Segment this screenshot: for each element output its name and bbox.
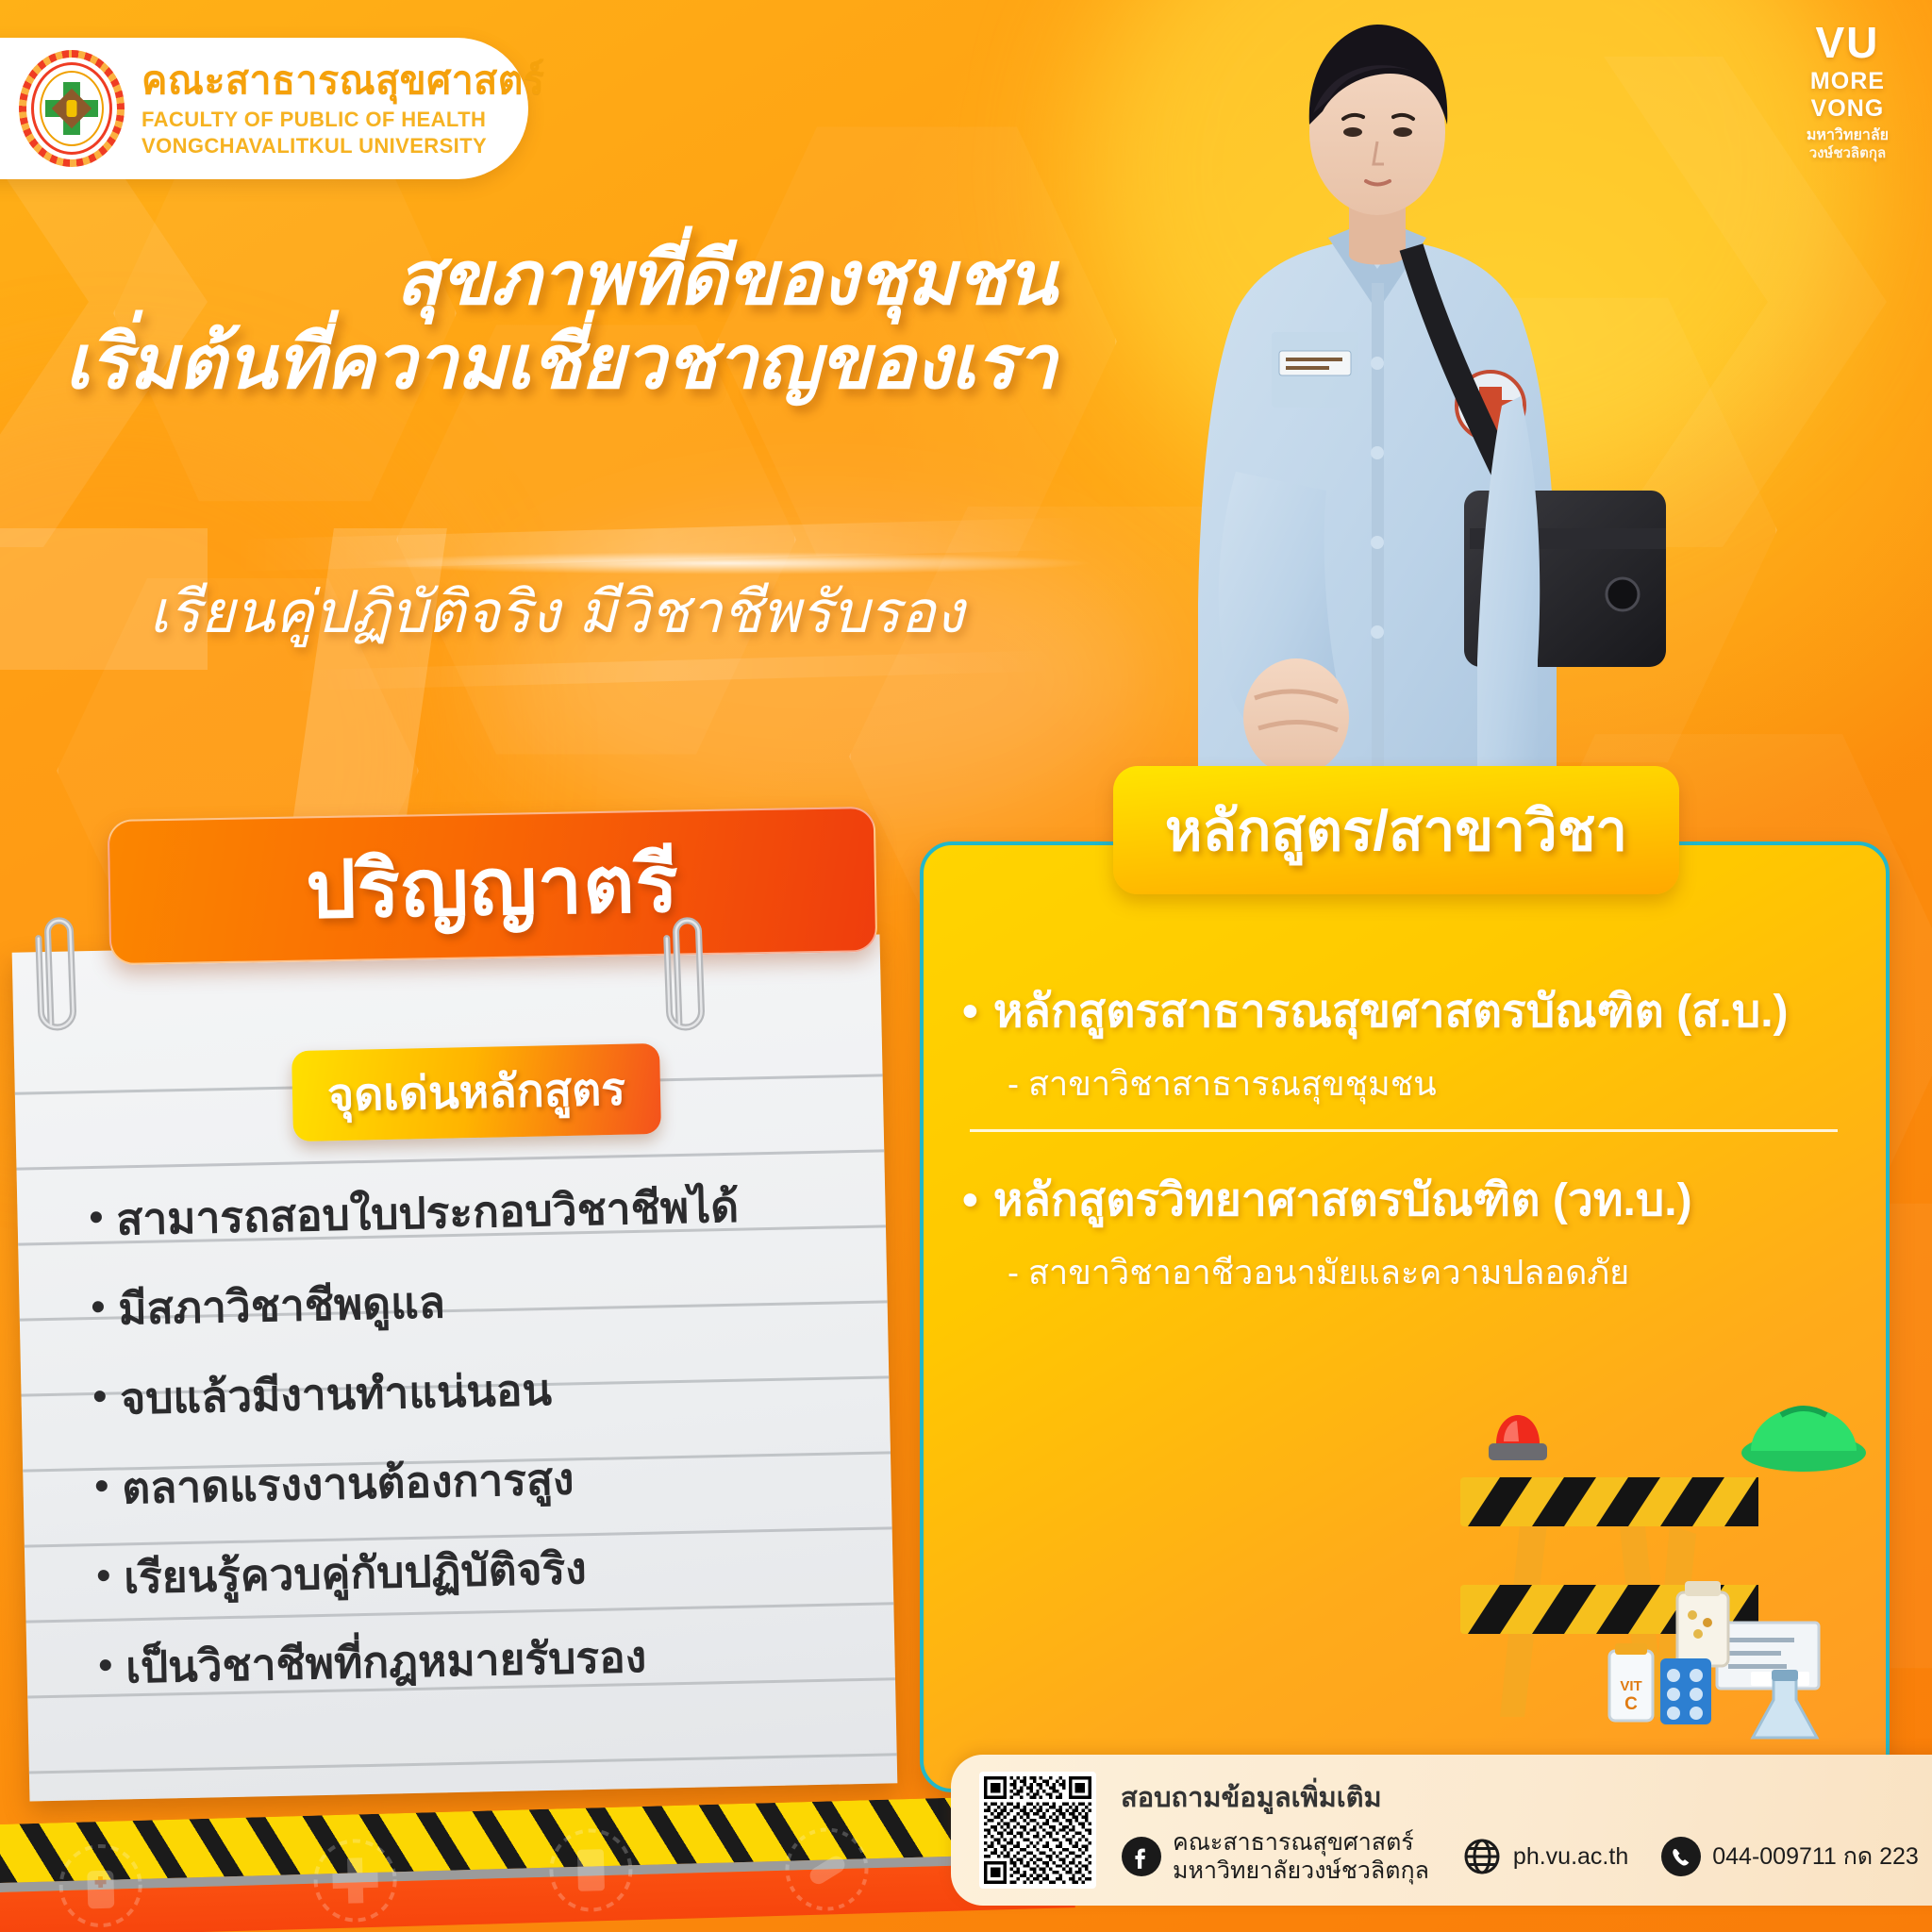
feature-label: เป็นวิชาชีพที่กฎหมายรับรอง	[125, 1635, 647, 1690]
degree-level-banner: ปริญญาตรี	[108, 807, 878, 965]
dash-icon: -	[1008, 1064, 1019, 1103]
contact-heading: สอบถามข้อมูลเพิ่มเติม	[1121, 1775, 1932, 1819]
dash-icon: -	[1008, 1253, 1019, 1291]
bullet-icon: •	[962, 989, 978, 1036]
poster-canvas: คณะสาธารณสุขศาสตร์ FACULTY OF PUBLIC OF …	[0, 0, 1932, 1932]
vitamin-c-icon: VIT C	[1609, 1643, 1653, 1721]
program-title-row: • หลักสูตรวิทยาศาสตรบัณฑิต (วท.บ.)	[962, 1177, 1858, 1224]
facebook-icon	[1121, 1836, 1162, 1877]
hard-hat-icon	[1741, 1407, 1866, 1472]
safety-barricade-illustration: VIT C	[1434, 1340, 1906, 1755]
feature-item: • จบแล้วมีงานทำแน่นอน	[92, 1362, 830, 1467]
warning-light-icon	[1489, 1415, 1547, 1460]
medical-cross-icon	[308, 1834, 402, 1927]
phone-contact[interactable]: 044-009711 กด 223	[1660, 1836, 1919, 1877]
script-text: เรียนคู่ปฏิบัติจริง มีวิชาชีพรับรอง	[57, 566, 1057, 658]
vu-logo-th1: มหาวิทยาลัย	[1807, 128, 1889, 143]
program-major: สาขาวิชาอาชีวอนามัยและความปลอดภัย	[1028, 1253, 1629, 1291]
faculty-name-en: FACULTY OF PUBLIC OF HEALTH	[142, 109, 544, 130]
feature-item: • เรียนรู้ควบคู่กับปฏิบัติจริง	[96, 1541, 834, 1646]
degree-level-label: ปริญญาตรี	[305, 820, 680, 953]
feature-item: • สามารถสอบใบประกอบวิชาชีพได้	[89, 1183, 826, 1288]
bullet-icon: •	[98, 1646, 113, 1684]
feature-label: ตลาดแรงงานต้องการสูง	[122, 1457, 575, 1510]
program-title: หลักสูตรวิทยาศาสตรบัณฑิต (วท.บ.)	[993, 1177, 1692, 1224]
feature-label: เรียนรู้ควบคู่กับปฏิบัติจริง	[124, 1546, 587, 1599]
bullet-icon: •	[91, 1288, 106, 1325]
blister-pack-icon	[1660, 1658, 1711, 1724]
hero-script-line: เรียนคู่ปฏิบัติจริง มีวิชาชีพรับรอง	[57, 566, 1057, 658]
feature-label: จบแล้วมีงานทำแน่นอน	[120, 1368, 553, 1421]
feature-label: มีสภาวิชาชีพดูแล	[118, 1280, 446, 1330]
programs-pill: หลักสูตร/สาขาวิชา	[1113, 766, 1679, 894]
program-major-row: - สาขาวิชาสาธารณสุขชุมชน	[1008, 1057, 1858, 1110]
feature-item: • มีสภาวิชาชีพดูแล	[91, 1273, 828, 1377]
program-title: หลักสูตรสาธารณสุขศาสตรบัณฑิต (ส.บ.)	[993, 989, 1789, 1036]
paper-clip-right	[662, 905, 710, 1037]
program-major: สาขาวิชาสาธารณสุขชุมชน	[1028, 1064, 1437, 1103]
feature-label: สามารถสอบใบประกอบวิชาชีพได้	[116, 1185, 740, 1241]
clipboard-icon	[544, 1824, 638, 1917]
pill-icon	[780, 1823, 874, 1916]
faculty-seal-icon	[19, 50, 125, 167]
qr-code[interactable]	[979, 1772, 1096, 1889]
vu-logo-vu: VU	[1807, 21, 1889, 64]
website-contact[interactable]: ph.vu.ac.th	[1461, 1836, 1628, 1877]
phone-number: 044-009711 กด 223	[1712, 1842, 1919, 1871]
student-photo	[1094, 0, 1679, 849]
headline-line-1: สุขภาพที่ดีของชุมชน	[57, 236, 1057, 320]
paper-clip-left	[34, 905, 82, 1037]
faculty-name-th: คณะสาธารณสุขศาสตร์	[142, 61, 544, 100]
bullet-icon: •	[92, 1377, 108, 1415]
bullet-icon: •	[89, 1198, 104, 1236]
vu-logo-vong: VONG	[1807, 97, 1889, 121]
university-name-en: VONGCHAVALITKUL UNIVERSITY	[142, 136, 544, 157]
svg-text:C: C	[1624, 1694, 1638, 1714]
bullet-icon: •	[962, 1177, 978, 1224]
faculty-logo-pill: คณะสาธารณสุขศาสตร์ FACULTY OF PUBLIC OF …	[0, 38, 528, 179]
hazard-stripe-footer	[0, 1794, 1075, 1932]
programs-pill-label: หลักสูตร/สาขาวิชา	[1165, 786, 1627, 875]
features-pill-label: จุดเด่นหลักสูตร	[326, 1054, 626, 1132]
facebook-line-2: มหาวิทยาลัยวงษ์ชวลิตกุล	[1173, 1857, 1429, 1885]
program-entry: • หลักสูตรสาธารณสุขศาสตรบัณฑิต (ส.บ.) - …	[962, 989, 1858, 1110]
bullet-icon: •	[94, 1467, 109, 1505]
program-title-row: • หลักสูตรสาธารณสุขศาสตรบัณฑิต (ส.บ.)	[962, 989, 1858, 1036]
headline-line-2: เริ่มต้นที่ความเชี่ยวชาญของเรา	[57, 320, 1057, 404]
program-major-row: - สาขาวิชาอาชีวอนามัยและความปลอดภัย	[1008, 1245, 1858, 1299]
feature-item: • ตลาดแรงงานต้องการสูง	[94, 1452, 832, 1557]
programs-divider	[970, 1129, 1838, 1132]
vu-logo-th2: วงษ์ชวลิตกุล	[1807, 146, 1889, 160]
vu-logo-more: MORE	[1807, 70, 1889, 93]
contact-footer-bar: สอบถามข้อมูลเพิ่มเติม คณะสาธารณสุขศาสตร์…	[951, 1755, 1932, 1906]
medicine-bottle-icon	[54, 1840, 147, 1932]
globe-icon	[1461, 1836, 1503, 1877]
features-pill: จุดเด่นหลักสูตร	[291, 1043, 661, 1141]
vu-university-logo: VU MORE VONG มหาวิทยาลัย วงษ์ชวลิตกุล	[1807, 21, 1889, 160]
website-url: ph.vu.ac.th	[1513, 1842, 1628, 1871]
lab-result-icon	[1717, 1623, 1819, 1689]
svg-text:VIT: VIT	[1620, 1678, 1641, 1694]
pill-bottle-icon	[1677, 1581, 1728, 1666]
program-entry: • หลักสูตรวิทยาศาสตรบัณฑิต (วท.บ.) - สาข…	[962, 1177, 1858, 1299]
hero-headline: สุขภาพที่ดีของชุมชน เริ่มต้นที่ความเชี่ย…	[57, 236, 1057, 405]
facebook-line-1: คณะสาธารณสุขศาสตร์	[1173, 1828, 1429, 1857]
bullet-icon: •	[96, 1557, 111, 1594]
features-list: • สามารถสอบใบประกอบวิชาชีพได้ • มีสภาวิช…	[89, 1183, 836, 1736]
phone-icon	[1660, 1836, 1702, 1877]
feature-item: • เป็นวิชาชีพที่กฎหมายรับรอง	[98, 1631, 836, 1736]
facebook-contact[interactable]: คณะสาธารณสุขศาสตร์ มหาวิทยาลัยวงษ์ชวลิตก…	[1121, 1828, 1429, 1885]
